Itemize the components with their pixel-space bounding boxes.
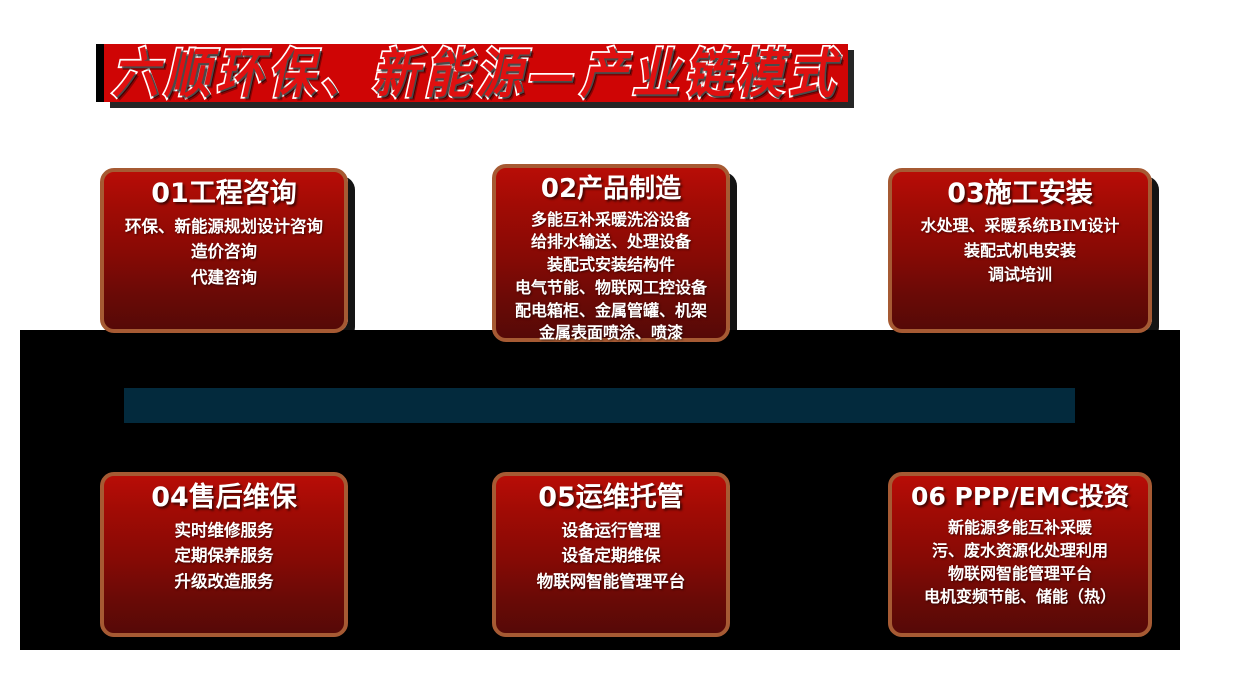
process-card-line: 造价咨询: [125, 239, 323, 265]
process-card-lines: 实时维修服务 定期保养服务 升级改造服务: [175, 518, 274, 595]
title-banner: 六顺环保、新能源—产业链模式: [104, 44, 848, 102]
process-card-line: 物联网智能管理平台: [924, 562, 1116, 585]
process-card-04[interactable]: 04售后维保 实时维修服务 定期保养服务 升级改造服务: [100, 472, 348, 637]
process-card-title: 01工程咨询: [151, 178, 297, 210]
process-card-line: 升级改造服务: [175, 569, 274, 595]
process-card-line: 电气节能、物联网工控设备: [515, 277, 707, 300]
process-card-06[interactable]: 06 PPP/EMC投资 新能源多能互补采暖 污、废水资源化处理利用 物联网智能…: [888, 472, 1152, 637]
process-card-line: 环保、新能源规划设计咨询: [125, 214, 323, 240]
mid-divider-bar: [124, 388, 1075, 423]
process-card-lines: 设备运行管理 设备定期维保 物联网智能管理平台: [537, 518, 686, 595]
process-card-line: 物联网智能管理平台: [537, 569, 686, 595]
process-card-line: 装配式机电安装: [921, 239, 1120, 264]
process-card-line: 给排水输送、处理设备: [515, 231, 707, 254]
process-card-line: 设备定期维保: [537, 543, 686, 569]
process-card-lines: 水处理、采暖系统BIM设计 装配式机电安装 调试培训: [921, 214, 1120, 288]
process-card-line: 定期保养服务: [175, 543, 274, 569]
process-card-title: 04售后维保: [151, 482, 297, 514]
process-card-line: 水处理、采暖系统BIM设计: [921, 214, 1120, 239]
process-card-line: 代建咨询: [125, 265, 323, 291]
process-card-line: 金属表面喷涂、喷漆: [515, 322, 707, 345]
process-card-02[interactable]: 02产品制造 多能互补采暖洗浴设备 给排水输送、处理设备 装配式安装结构件 电气…: [492, 164, 730, 342]
process-card-line: 电机变频节能、储能（热）: [924, 585, 1116, 608]
process-card-05[interactable]: 05运维托管 设备运行管理 设备定期维保 物联网智能管理平台: [492, 472, 730, 637]
process-card-line: 配电箱柜、金属管罐、机架: [515, 300, 707, 323]
process-card-lines: 多能互补采暖洗浴设备 给排水输送、处理设备 装配式安装结构件 电气节能、物联网工…: [515, 209, 707, 345]
process-card-line: 装配式安装结构件: [515, 254, 707, 277]
process-card-lines: 新能源多能互补采暖 污、废水资源化处理利用 物联网智能管理平台 电机变频节能、储…: [924, 516, 1116, 609]
process-card-title: 03施工安装: [947, 178, 1093, 210]
process-card-line: 调试培训: [921, 263, 1120, 288]
process-card-line: 多能互补采暖洗浴设备: [515, 209, 707, 232]
process-card-line: 实时维修服务: [175, 518, 274, 544]
process-card-03[interactable]: 03施工安装 水处理、采暖系统BIM设计 装配式机电安装 调试培训: [888, 168, 1152, 333]
title-banner-text: 六顺环保、新能源—产业链模式: [112, 46, 840, 99]
process-card-title: 05运维托管: [538, 482, 684, 514]
process-card-title: 02产品制造: [541, 174, 681, 205]
process-card-line: 设备运行管理: [537, 518, 686, 544]
process-card-title: 06 PPP/EMC投资: [911, 482, 1129, 512]
process-card-line: 污、废水资源化处理利用: [924, 539, 1116, 562]
process-card-line: 新能源多能互补采暖: [924, 516, 1116, 539]
process-card-lines: 环保、新能源规划设计咨询 造价咨询 代建咨询: [125, 214, 323, 291]
process-card-01[interactable]: 01工程咨询 环保、新能源规划设计咨询 造价咨询 代建咨询: [100, 168, 348, 333]
infographic-canvas: 六顺环保、新能源—产业链模式 01工程咨询 环保、新能源规划设计咨询 造价咨询 …: [0, 0, 1240, 696]
